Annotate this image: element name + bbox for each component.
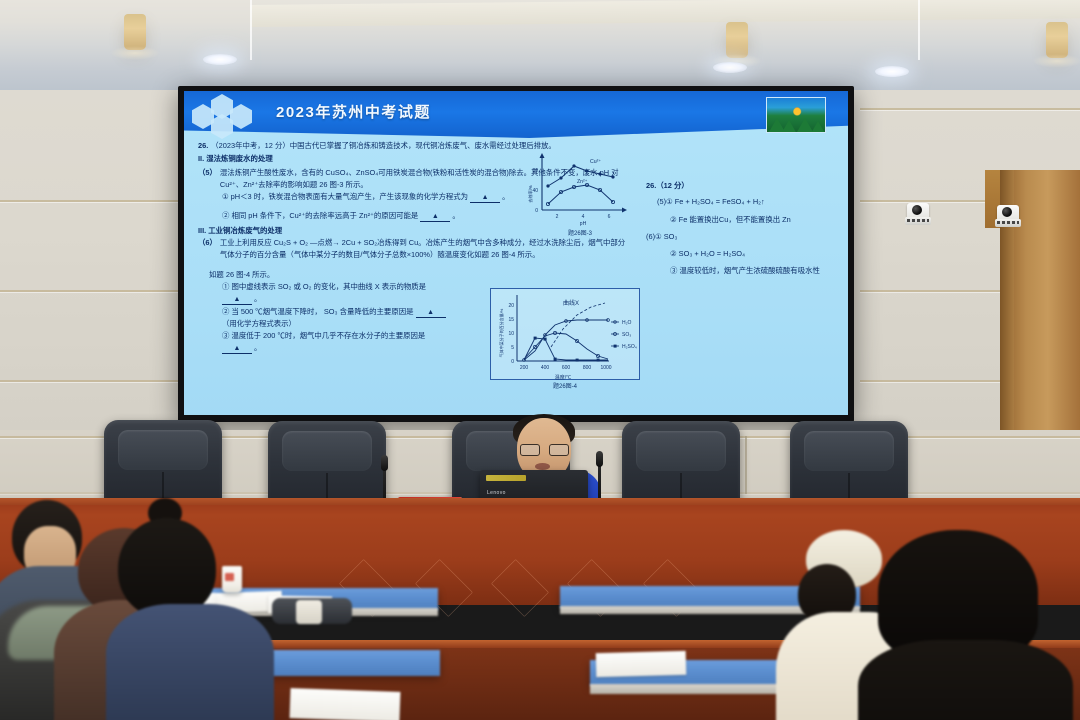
audience-person	[112, 508, 252, 720]
svg-text:0: 0	[535, 208, 538, 214]
figure-reference: 如题 26 图-4 所示。	[198, 269, 448, 281]
laptop-brand-label: Lenovo	[487, 490, 506, 496]
svg-text:曲线X: 曲线X	[563, 299, 579, 307]
projection-screen[interactable]: 2023年苏州中考试题 26. （2023年中考，12 分）中国古代已掌握了铜冶…	[178, 86, 854, 422]
downlight-icon	[203, 54, 237, 65]
screen-display-area: 2023年苏州中考试题 26. （2023年中考，12 分）中国古代已掌握了铜冶…	[184, 91, 848, 415]
answer-blank-icon: ▲	[222, 344, 252, 354]
answer-item: ③ 温度较低时，烟气产生浓硫酸硫酸有吸水性	[646, 265, 846, 277]
flower-photo	[766, 97, 826, 133]
svg-text:800: 800	[583, 365, 592, 371]
svg-text:H₂O: H₂O	[622, 320, 632, 326]
chair[interactable]	[622, 421, 740, 507]
question-6-sub1: ① 图中虚线表示 SO₂ 或 O₂ 的变化，其中曲线 X 表示的物质是 ▲ 。	[198, 281, 448, 306]
camera-base	[905, 217, 931, 225]
presentation-slide: 2023年苏州中考试题 26. （2023年中考，12 分）中国古代已掌握了铜冶…	[184, 91, 848, 415]
wall-panel-line	[860, 108, 1080, 110]
question-6-sub2: ② 当 500 ℃烟气温度下降时， SO₃ 含量降低的主要原因是 ▲ （用化学方…	[198, 306, 448, 331]
answer-item: (6)① SO₃	[646, 231, 846, 243]
chart-figure-3: 0 40 80 2 4 6	[528, 150, 632, 228]
ceiling-seam	[918, 0, 920, 60]
presenter-mouth	[535, 463, 550, 470]
hexagon-logo-icon	[192, 95, 266, 139]
slide-title: 2023年苏州中考试题	[276, 101, 431, 122]
camera-body	[997, 205, 1019, 220]
svg-text:10: 10	[508, 331, 514, 337]
svg-text:0: 0	[511, 359, 514, 365]
downlight-icon	[713, 62, 747, 73]
ceiling-soffit	[250, 0, 1080, 27]
svg-text:80: 80	[532, 168, 538, 174]
svg-text:温度/℃: 温度/℃	[555, 374, 571, 381]
camera-body	[907, 203, 929, 218]
camera-lens-icon	[912, 205, 922, 215]
svg-text:600: 600	[562, 365, 571, 371]
svg-text:pH: pH	[580, 221, 587, 227]
chart-3-caption: 题26图-3	[528, 228, 632, 240]
svg-text:H₂SO₄: H₂SO₄	[622, 344, 637, 350]
answer-blank-icon: ▲	[420, 212, 450, 222]
ptz-camera-icon	[997, 205, 1019, 229]
q6-sub3-text: ③ 温度低于 200 ℃时，烟气中几乎不存在水分子的主要原因是	[222, 331, 425, 340]
spotlight-icon	[1046, 22, 1068, 58]
q6-sub1-text: ① 图中虚线表示 SO₂ 或 O₂ 的变化，其中曲线 X 表示的物质是	[222, 282, 426, 291]
svg-text:2: 2	[556, 214, 559, 220]
question-6-sub3: ③ 温度低于 200 ℃时，烟气中几乎不存在水分子的主要原因是 ▲ 。	[198, 330, 448, 355]
svg-text:Cu²⁺: Cu²⁺	[590, 159, 601, 165]
svg-text:5: 5	[511, 345, 514, 351]
question-number: 26.	[198, 140, 208, 152]
slide-right-column: 26.（12 分） (5)① Fe + H₂SO₄ = FeSO₄ + H₂↑ …	[646, 180, 846, 283]
question-5-number: （5）	[198, 167, 217, 192]
white-cloth	[296, 600, 322, 624]
camera-base	[995, 219, 1021, 227]
audience-person	[868, 530, 1078, 720]
answer-blank-icon: ▲	[222, 295, 252, 305]
chair[interactable]	[790, 421, 908, 507]
svg-text:气体中某分子的百分含量/%: 气体中某分子的百分含量/%	[498, 308, 504, 357]
svg-text:SO₃: SO₃	[622, 332, 631, 338]
svg-text:200: 200	[520, 365, 529, 371]
paper-sheet	[596, 651, 687, 677]
question-6-number: （6）	[198, 237, 217, 262]
svg-text:Zn²⁺: Zn²⁺	[577, 179, 588, 185]
chart-4-svg: 0 5 10 15 20 200 400 600 800 1000 气体中某分子	[491, 289, 641, 381]
chart-3-svg: 0 40 80 2 4 6	[528, 150, 632, 228]
spotlight-icon	[726, 22, 748, 58]
question-6-text: 工业上利用反应 Cu₂S + O₂ —点燃→ 2Cu + SO₂冶炼得到 Cu。…	[220, 237, 628, 262]
laptop-sticker	[486, 475, 526, 481]
q5-sub1-text: ① pH＜3 时，铁炭混合物表面有大量气泡产生，产生该现象的化学方程式为	[222, 192, 468, 201]
chair[interactable]	[104, 420, 222, 506]
ceiling	[0, 0, 1080, 98]
slide-body: 26. （2023年中考，12 分）中国古代已掌握了铜冶炼和铸造技术，现代铜冶炼…	[184, 138, 848, 415]
person-hair	[118, 518, 216, 618]
question-6: （6） 工业上利用反应 Cu₂S + O₂ —点燃→ 2Cu + SO₂冶炼得到…	[198, 237, 628, 262]
chart-4-caption: 题26图-4	[491, 381, 639, 393]
wall-panel-line	[0, 200, 180, 202]
answer-item: (5)① Fe + H₂SO₄ = FeSO₄ + H₂↑	[646, 196, 846, 208]
answer-blank-icon: ▲	[470, 193, 500, 203]
camera-lens-icon	[1002, 207, 1012, 217]
downlight-icon	[875, 66, 909, 77]
glasses-icon	[520, 444, 569, 456]
paper-sheet	[290, 688, 401, 720]
wall-panel-line	[0, 380, 180, 382]
svg-text:400: 400	[541, 365, 550, 371]
wall-vertical-seam	[745, 436, 747, 494]
answer-heading: 26.（12 分）	[646, 180, 846, 192]
conference-room-scene: 2023年苏州中考试题 26. （2023年中考，12 分）中国古代已掌握了铜冶…	[0, 0, 1080, 720]
person-body	[858, 640, 1073, 720]
slide-left-column: 26. （2023年中考，12 分）中国古代已掌握了铜冶炼和铸造技术，现代铜冶炼…	[198, 140, 628, 355]
svg-text:4: 4	[582, 214, 585, 220]
ceiling-seam	[250, 0, 252, 60]
q6-sub2-text: ② 当 500 ℃烟气温度下降时， SO₃ 含量降低的主要原因是	[222, 307, 414, 316]
svg-text:20: 20	[508, 303, 514, 309]
q6-sub2-hint: （用化学方程式表示）	[222, 319, 296, 328]
chair[interactable]	[268, 421, 386, 507]
svg-text:1000: 1000	[600, 365, 611, 371]
wall-panel-line	[0, 290, 180, 292]
spotlight-icon	[124, 14, 146, 50]
q5-sub2-text: ② 相同 pH 条件下，Cu²⁺的去除率远高于 Zn²⁺的原因可能是	[222, 211, 418, 220]
svg-text:15: 15	[508, 317, 514, 323]
answer-item: ② SO₃ + H₂O = H₂SO₄	[646, 248, 846, 260]
chart-figure-4: 0 5 10 15 20 200 400 600 800 1000 气体中某分子	[490, 288, 640, 380]
ptz-camera-icon	[907, 203, 929, 227]
answer-blank-icon: ▲	[416, 308, 446, 318]
svg-text:6: 6	[608, 214, 611, 220]
svg-text:40: 40	[532, 188, 538, 194]
answer-item: ② Fe 能置换出Cu，但不能置换出 Zn	[646, 214, 846, 226]
person-body	[106, 604, 274, 720]
